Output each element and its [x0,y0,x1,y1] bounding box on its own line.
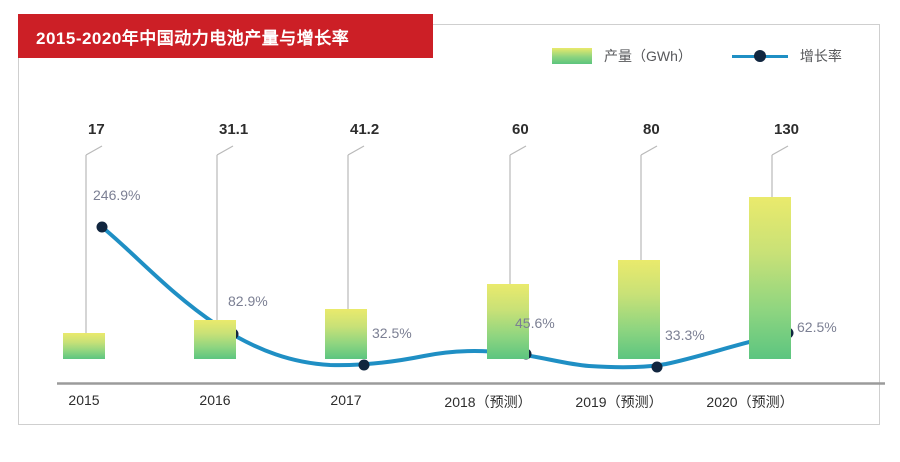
bar-2017[interactable] [325,309,367,359]
bar-value-2019: 80 [643,121,660,138]
legend-label-growth-rate: 增长率 [800,46,842,66]
bar-2020[interactable] [749,197,791,359]
green-gradient-swatch-icon [552,48,592,64]
chart-title-banner: 2015-2020年中国动力电池产量与增长率 [18,14,433,58]
x-axis-label-2016: 2016 [170,392,260,408]
x-axis-label-2019: 2019（预测） [564,392,674,412]
bar-value-2015: 17 [88,121,105,138]
growth-label-2019: 33.3% [665,327,705,343]
x-axis-label-2017: 2017 [301,392,391,408]
x-axis-label-2015: 2015 [39,392,129,408]
bar-2019[interactable] [618,260,660,359]
x-axis-label-2018: 2018（预测） [433,392,543,412]
legend-item-growth-rate[interactable]: 增长率 [732,46,842,66]
growth-label-2020: 62.5% [797,319,837,335]
bar-value-2016: 31.1 [219,121,248,138]
bar-value-2018: 60 [512,121,529,138]
value-leader-lines [86,146,788,357]
chart-legend: 产量（GWh） 增长率 [552,46,842,66]
growth-label-2016: 82.9% [228,293,268,309]
growth-label-2017: 32.5% [372,325,412,341]
legend-label-production: 产量（GWh） [604,46,692,66]
x-axis-label-2020: 2020（预测） [695,392,805,412]
bar-value-2020: 130 [774,121,799,138]
growth-label-2018: 45.6% [515,315,555,331]
bar-value-2017: 41.2 [350,121,379,138]
bar-2015[interactable] [63,333,105,359]
legend-item-production[interactable]: 产量（GWh） [552,46,692,66]
growth-label-2015: 246.9% [93,187,140,203]
blue-line-marker-icon [732,49,788,63]
bar-2016[interactable] [194,320,236,359]
chart-card: 17 31.1 41.2 60 80 130 246.9% 82.9% 32.5… [18,24,880,425]
page-title: 2015-2020年中国动力电池产量与增长率 [18,24,349,49]
